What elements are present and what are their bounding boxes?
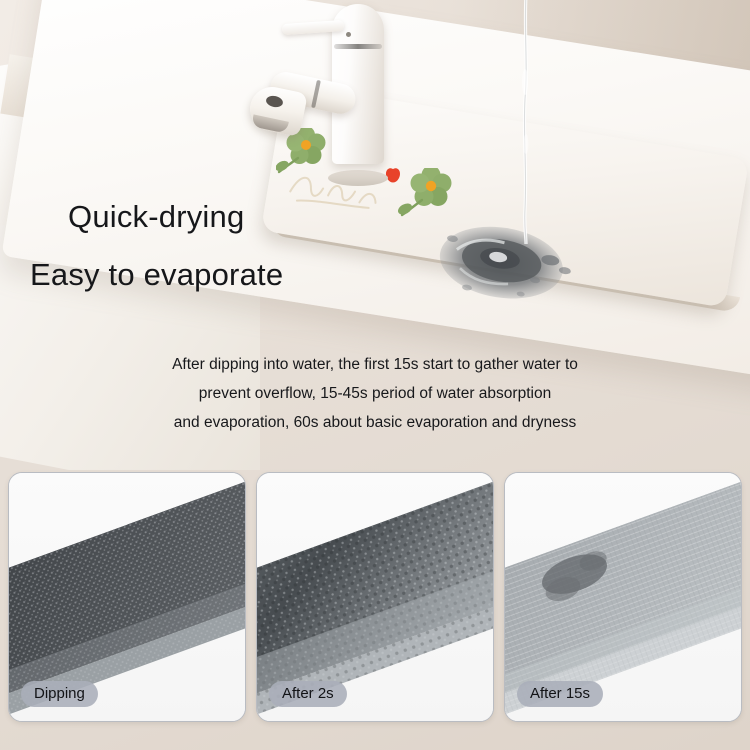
- comparison-panel-after-15s: After 15s: [504, 472, 742, 722]
- faucet: [288, 0, 418, 210]
- description-text: After dipping into water, the first 15s …: [0, 350, 750, 437]
- faucet-base-ring: [328, 170, 388, 186]
- panel-caption-after-15s: After 15s: [517, 681, 603, 707]
- comparison-panels: Dipping: [0, 472, 750, 730]
- comparison-panel-after-2s: After 2s: [256, 472, 494, 722]
- panel-caption-dipping: Dipping: [21, 681, 98, 707]
- faucet-indicator-dot: [346, 32, 351, 37]
- comparison-panel-dipping: Dipping: [8, 472, 246, 722]
- hero-photo-scene: Quick-drying Easy to evaporate After dip…: [0, 0, 750, 470]
- headline-line-2: Easy to evaporate: [30, 257, 283, 293]
- faucet-collar-ring: [334, 44, 382, 49]
- product-infographic: Quick-drying Easy to evaporate After dip…: [0, 0, 750, 750]
- water-stream: [519, 0, 533, 244]
- headline-line-1: Quick-drying: [68, 199, 244, 235]
- description-line-1: After dipping into water, the first 15s …: [0, 350, 750, 379]
- description-line-2: prevent overflow, 15-45s period of water…: [0, 379, 750, 408]
- description-line-3: and evaporation, 60s about basic evapora…: [0, 408, 750, 437]
- panel-caption-after-2s: After 2s: [269, 681, 347, 707]
